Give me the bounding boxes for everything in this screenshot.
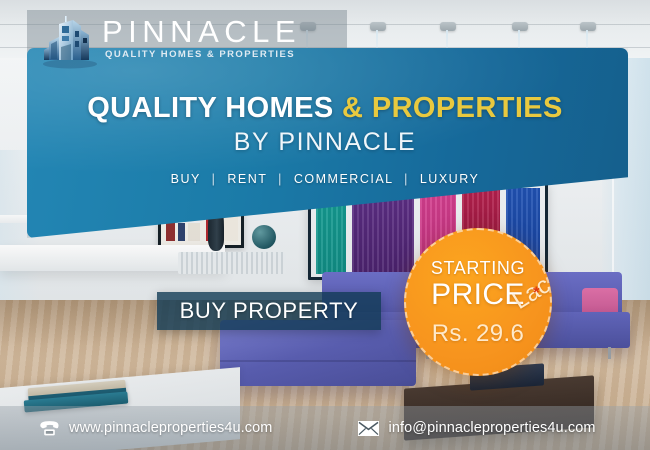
logo-tagline: QUALITY HOMES & PROPERTIES — [102, 48, 301, 62]
email-text: info@pinnacleproperties4u.com — [389, 420, 596, 436]
buy-property-label: BUY PROPERTY — [180, 298, 359, 324]
headline-gold-part: & PROPERTIES — [342, 92, 563, 124]
category-separator: | — [272, 172, 289, 186]
badge-line-starting: STARTING — [431, 258, 525, 278]
category-buy[interactable]: BUY — [171, 172, 201, 186]
badge-asterisk: * — [533, 284, 540, 301]
category-commercial[interactable]: COMMERCIAL — [294, 172, 393, 186]
category-luxury[interactable]: LUXURY — [420, 172, 479, 186]
buy-property-button[interactable]: BUY PROPERTY — [157, 292, 381, 330]
logo-name: PINNACLE — [102, 16, 301, 48]
brand-logo[interactable]: PINNACLE QUALITY HOMES & PROPERTIES — [40, 14, 340, 70]
envelope-icon — [358, 419, 380, 437]
headline-white-part: QUALITY HOMES — [87, 92, 342, 124]
category-separator: | — [398, 172, 415, 186]
logo-wordmark: PINNACLE QUALITY HOMES & PROPERTIES — [102, 16, 301, 62]
website-text: www.pinnacleproperties4u.com — [69, 420, 273, 436]
skyscraper-building-icon — [40, 14, 100, 70]
email-contact[interactable]: info@pinnacleproperties4u.com — [358, 406, 596, 450]
telephone-icon — [38, 419, 60, 437]
headline-primary: QUALITY HOMES & PROPERTIES — [0, 91, 650, 125]
badge-amount: Rs. 29.6 — [432, 320, 525, 348]
category-rent[interactable]: RENT — [227, 172, 267, 186]
contact-footer: www.pinnacleproperties4u.com info@pinnac… — [0, 406, 650, 450]
real-estate-advertisement: PINNACLE QUALITY HOMES & PROPERTIES QUAL… — [0, 0, 650, 450]
website-contact[interactable]: www.pinnacleproperties4u.com — [38, 406, 273, 450]
category-separator: | — [206, 172, 223, 186]
category-list: BUY | RENT | COMMERCIAL | LUXURY — [0, 172, 650, 186]
headline-secondary: BY PINNACLE — [0, 127, 650, 157]
